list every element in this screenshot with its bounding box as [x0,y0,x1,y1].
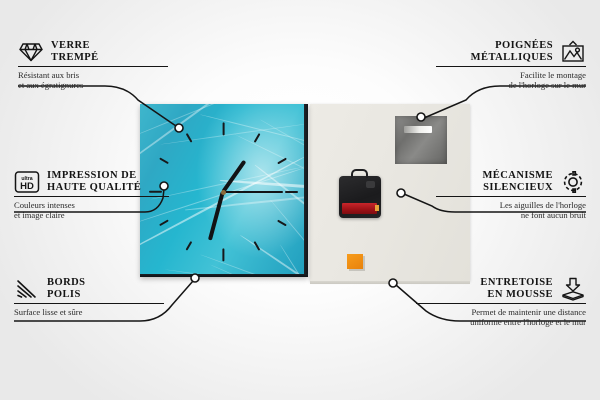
callout-title: VERRE TREMPÉ [51,40,99,64]
callout-subtitle: Permet de maintenir une distance uniform… [416,307,586,328]
hour-tick [254,133,261,143]
hanger-slot [404,126,432,133]
callout-subtitle: Couleurs intenses et image claire [14,200,169,221]
foam-spacer-icon [560,277,586,301]
callout-title: MÉCANISME SILENCIEUX [482,170,553,194]
minute-hand [208,192,224,241]
callout-impression-haute-qualite: ultra HD IMPRESSION DE HAUTE QUALITÉ Cou… [14,170,169,221]
callout-title: ENTRETOISE EN MOUSSE [480,277,553,301]
hour-tick [159,157,169,164]
hour-tick [254,241,261,251]
callout-mecanisme-silencieux: MÉCANISME SILENCIEUX Les aiguilles de l'… [436,170,586,221]
callout-rule [18,66,168,67]
hour-tick [186,241,193,251]
ultra-hd-main-text: HD [20,181,34,192]
product-composition [140,104,470,281]
mechanism-knob [366,181,375,188]
battery [342,203,377,214]
callout-rule [14,196,169,197]
callout-title: POIGNÉES MÉTALLIQUES [471,40,553,64]
callout-subtitle: Surface lisse et sûre [14,307,164,317]
callout-verre-trempe: VERRE TREMPÉ Résistant aux bris et aux é… [18,40,168,91]
callout-subtitle: Résistant aux bris et aux égratignures [18,70,168,91]
hour-tick [186,133,193,143]
picture-hanger-icon [560,40,586,64]
callout-title: BORDS POLIS [47,277,85,301]
metal-hanger-plate [395,116,447,164]
foam-spacer [347,254,363,269]
gear-icon [560,170,586,194]
hour-hand [221,160,246,194]
hour-tick [159,220,169,227]
callout-rule [416,303,586,304]
infographic-stage: VERRE TREMPÉ Résistant aux bris et aux é… [0,0,600,400]
callout-subtitle: Les aiguilles de l'horloge ne font aucun… [436,200,586,221]
diamond-icon [18,41,44,63]
polished-edges-icon [14,278,40,300]
callout-poignees-metalliques: POIGNÉES MÉTALLIQUES Facilite le montage… [436,40,586,91]
hour-tick [222,248,224,261]
panel-bottom-edge [140,274,308,277]
second-hand [223,191,283,193]
callout-subtitle: Facilite le montage de l'horloge sur le … [436,70,586,91]
clock-center-pin [221,190,226,195]
clock-mechanism [339,176,381,218]
callout-rule [436,66,586,67]
callout-entretoise-en-mousse: ENTRETOISE EN MOUSSE Permet de maintenir… [416,277,586,328]
callout-rule [436,196,586,197]
callout-rule [14,303,164,304]
hour-tick [222,123,224,136]
hour-tick [277,220,287,227]
ultra-hd-icon: ultra HD [14,170,40,194]
callout-title: IMPRESSION DE HAUTE QUALITÉ [47,170,141,194]
panel-right-edge [304,104,308,277]
mechanism-hook [351,169,368,178]
hour-tick [285,191,298,193]
hour-tick [277,157,287,164]
callout-bords-polis: BORDS POLIS Surface lisse et sûre [14,277,164,317]
